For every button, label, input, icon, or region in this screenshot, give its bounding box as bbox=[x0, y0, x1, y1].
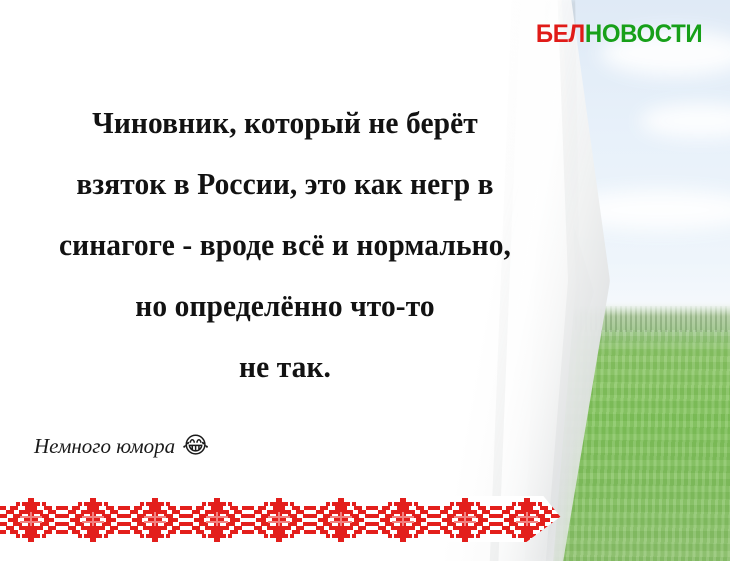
laughing-face-icon: 😂 bbox=[182, 435, 209, 458]
joke-line: взяток в России, это как негр в bbox=[33, 153, 537, 214]
joke-text: Чиновник, который не берёт взяток в Росс… bbox=[33, 92, 537, 397]
joke-line: не так. bbox=[33, 336, 537, 397]
signature-label: Немного юмора bbox=[34, 434, 175, 459]
joke-line: Чиновник, который не берёт bbox=[33, 92, 537, 153]
joke-line: но определённо что-то bbox=[33, 275, 537, 336]
site-logo[interactable]: БЕЛНОВОСТИ bbox=[536, 20, 702, 49]
joke-card: БЕЛНОВОСТИ Чиновник, который не берёт вз… bbox=[0, 0, 730, 561]
belarusian-ornament-band bbox=[0, 496, 566, 542]
logo-text-novosti: НОВОСТИ bbox=[585, 20, 702, 48]
joke-line: синагоге - вроде всё и нормально, bbox=[33, 214, 537, 275]
ornament-pattern bbox=[0, 496, 566, 542]
logo-text-bel: БЕЛ bbox=[536, 20, 585, 48]
signature: Немного юмора 😂 bbox=[34, 434, 209, 459]
